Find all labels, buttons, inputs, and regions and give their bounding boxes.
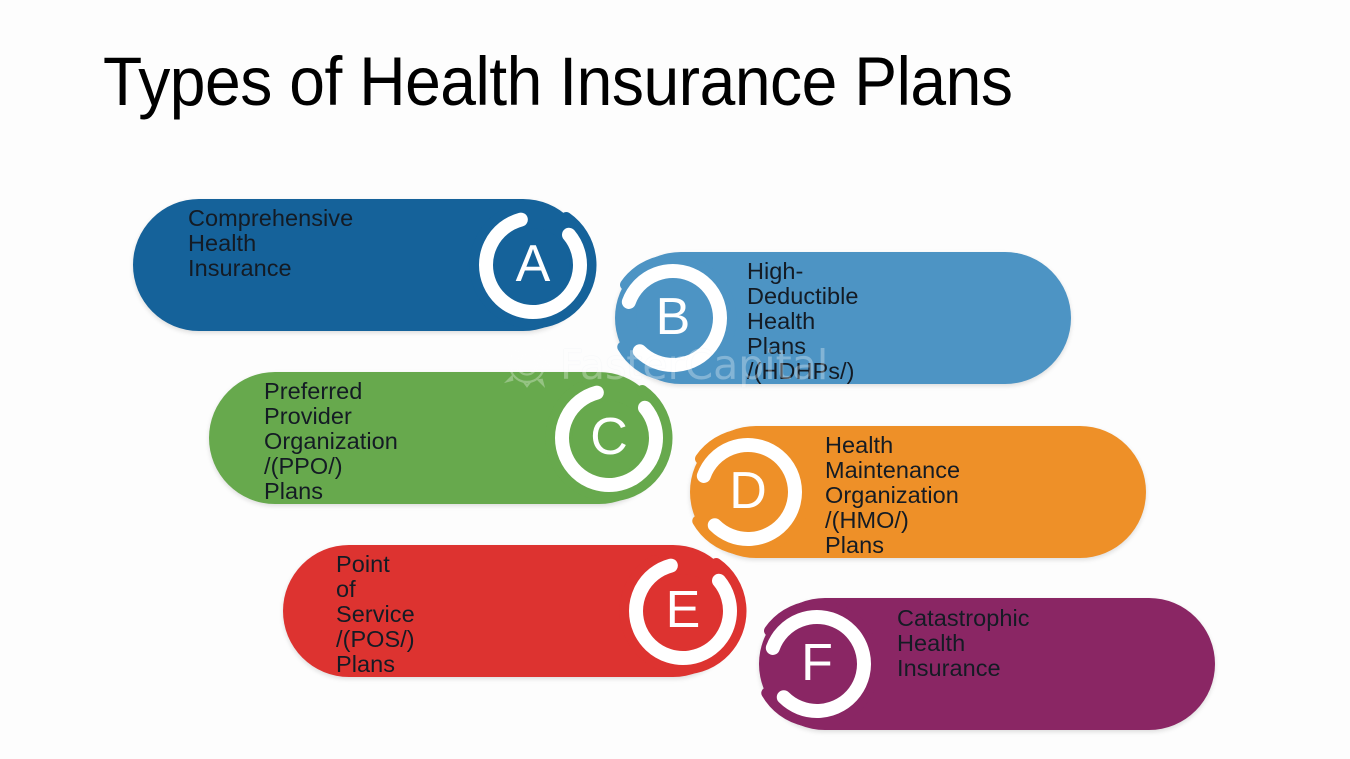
badge-letter-a: A — [467, 199, 599, 331]
pill-label-e: Point of Service /(POS/) Plans — [336, 552, 415, 677]
badge-letter-b: B — [607, 252, 739, 384]
badge-c[interactable]: C — [543, 372, 675, 504]
pill-label-b: High-Deductible Health Plans /(HDHPs/) — [747, 259, 859, 384]
pill-label-d: Health Maintenance Organization /(HMO/) … — [825, 433, 960, 558]
badge-f[interactable]: F — [751, 598, 883, 730]
badge-letter-e: E — [617, 545, 749, 677]
badge-letter-d: D — [682, 426, 814, 558]
badge-letter-c: C — [543, 372, 675, 504]
badge-b[interactable]: B — [607, 252, 739, 384]
pill-label-f: Catastrophic Health Insurance — [897, 606, 1030, 681]
badge-d[interactable]: D — [682, 426, 814, 558]
pill-label-c: Preferred Provider Organization /(PPO/) … — [264, 379, 398, 504]
pill-label-a: Comprehensive Health Insurance — [188, 206, 353, 281]
page-title: Types of Health Insurance Plans — [103, 42, 1145, 121]
slide-canvas: Types of Health Insurance Plans Comprehe… — [0, 0, 1350, 759]
badge-letter-f: F — [751, 598, 883, 730]
badge-e[interactable]: E — [617, 545, 749, 677]
badge-a[interactable]: A — [467, 199, 599, 331]
